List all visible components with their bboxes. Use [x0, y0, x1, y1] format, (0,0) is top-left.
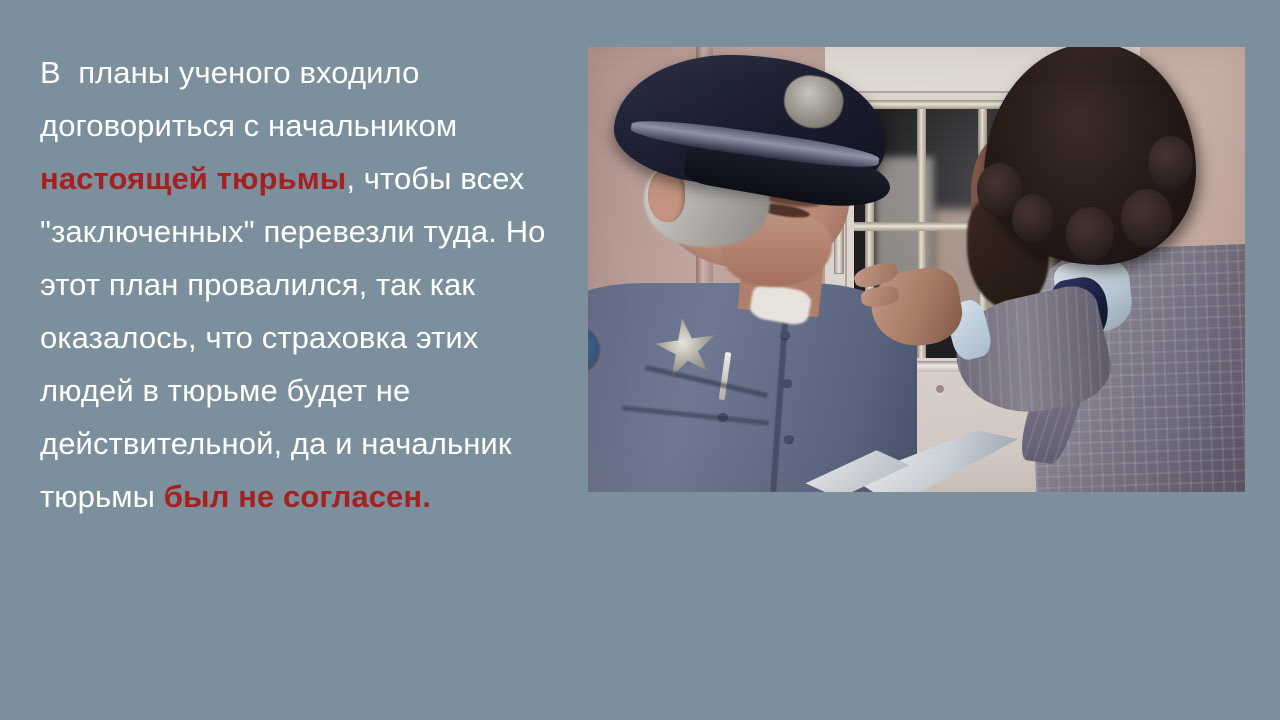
- officer-shirt-button: [782, 379, 792, 387]
- visitor-hair-curl: [1121, 189, 1172, 247]
- slide-canvas: В планы ученого входило договориться с н…: [0, 0, 1280, 720]
- visitor-hair-curl: [1066, 207, 1114, 260]
- text-segment-plain-2: , чтобы всех "заключенных" перевезли туд…: [40, 161, 554, 514]
- text-segment-accent-2: был не согласен.: [164, 479, 431, 514]
- text-segment-accent-1: настоящей тюрьмы: [40, 161, 346, 196]
- visitor-hair-curl: [1148, 136, 1192, 189]
- text-segment-plain-1: В планы ученого входило договориться с н…: [40, 55, 466, 143]
- officer-shirt-button: [780, 331, 790, 339]
- photo-scene: [588, 47, 1245, 492]
- slide-body-text: В планы ученого входило договориться с н…: [40, 46, 580, 523]
- slide-photo: [588, 47, 1245, 492]
- visitor-figure: [930, 47, 1245, 492]
- visitor-hair-curl: [1012, 194, 1053, 243]
